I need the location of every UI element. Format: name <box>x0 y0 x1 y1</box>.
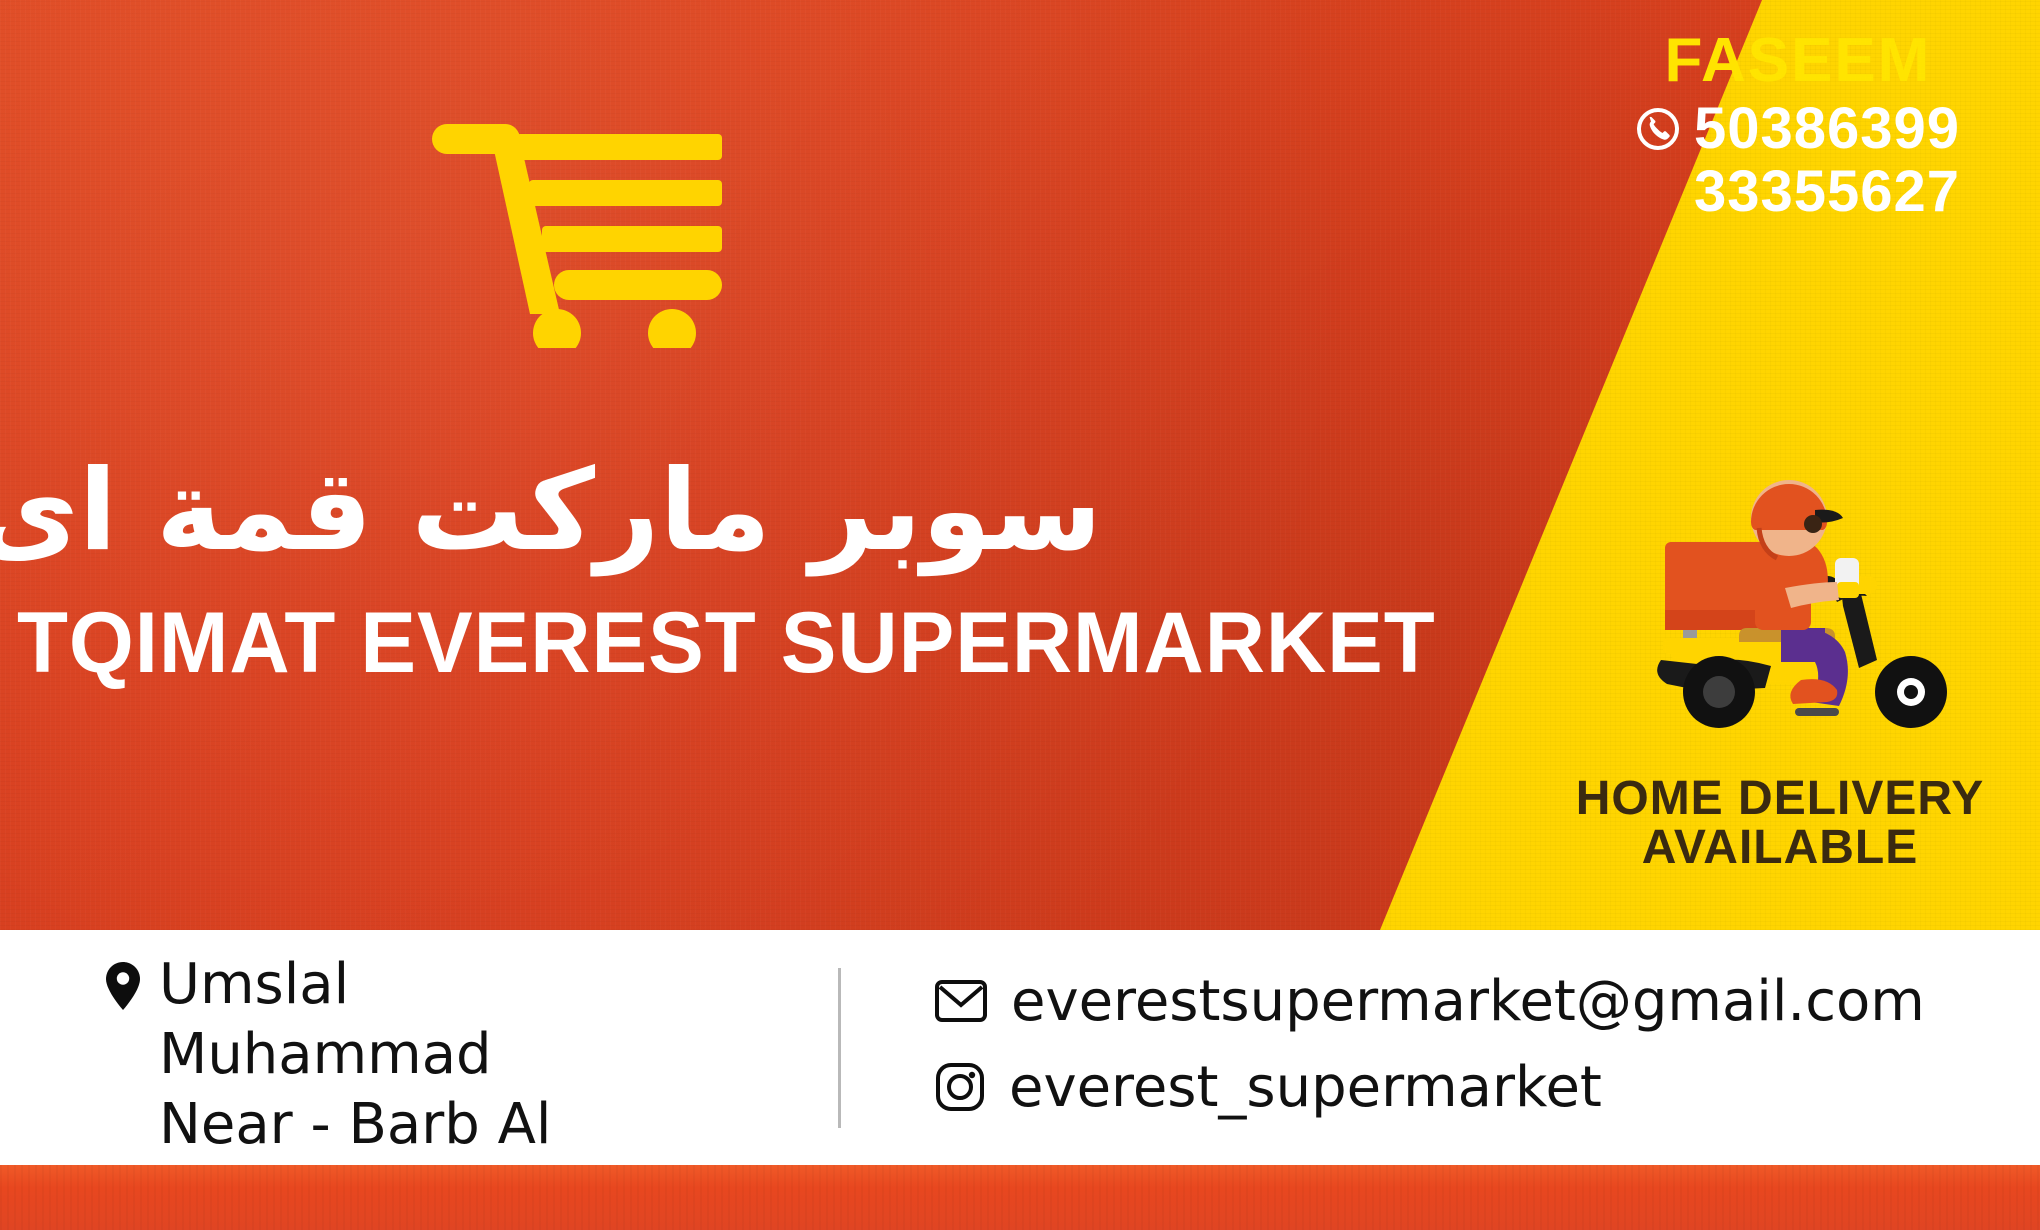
address-line-1: Umslal Muhammad <box>159 950 645 1090</box>
delivery-line-2: AVAILABLE <box>1540 824 2020 873</box>
email-row[interactable]: everestsupermarket@gmail.com <box>935 958 1925 1044</box>
email-address: everestsupermarket@gmail.com <box>1011 969 1925 1034</box>
online-contact-column: everestsupermarket@gmail.com everest_sup… <box>935 958 1925 1130</box>
owner-name: FASEEM <box>1636 30 1960 92</box>
contact-block: FASEEM 50386399 33355627 <box>1636 30 1960 223</box>
footer-bar: Umslal Muhammad Near - Barb Al Saai ever… <box>0 930 2040 1165</box>
instagram-icon <box>935 1062 985 1112</box>
phone-primary-row[interactable]: 50386399 <box>1636 98 1960 161</box>
phone-circle-icon <box>1636 107 1680 151</box>
business-card: FASEEM 50386399 33355627 سوبر ماركت قمة … <box>0 0 2040 1230</box>
english-store-name: TQIMAT EVEREST SUPERMARKET <box>17 600 1113 686</box>
phone-secondary[interactable]: 33355627 <box>1694 161 1960 224</box>
shopping-cart-icon <box>432 118 722 348</box>
arabic-store-name: سوبر ماركت قمة اى فرست <box>0 455 1120 567</box>
scooter-delivery-rider-icon <box>1655 470 2040 730</box>
phone-primary: 50386399 <box>1694 98 1960 161</box>
location-pin-icon <box>105 962 141 1010</box>
bottom-accent-stripe <box>0 1165 2040 1230</box>
home-delivery-label: HOME DELIVERY AVAILABLE <box>1540 775 2020 873</box>
delivery-line-1: HOME DELIVERY <box>1540 775 2020 824</box>
instagram-row[interactable]: everest_supermarket <box>935 1044 1925 1130</box>
footer-divider <box>838 968 841 1128</box>
envelope-icon <box>935 980 987 1022</box>
instagram-handle: everest_supermarket <box>1009 1055 1602 1120</box>
